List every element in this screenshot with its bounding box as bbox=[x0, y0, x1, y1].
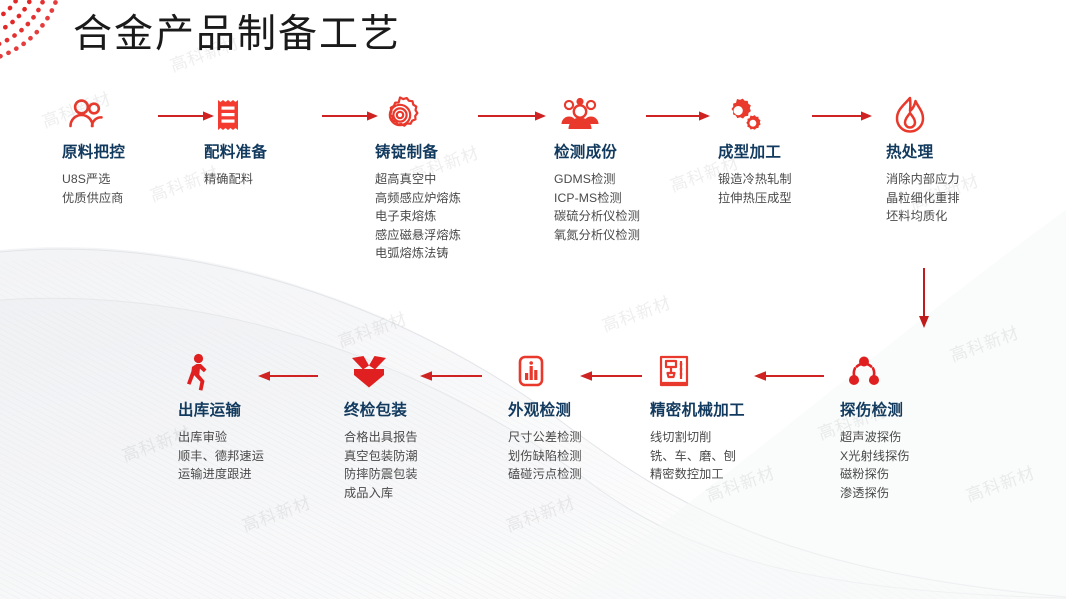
flow-arrow-right bbox=[158, 109, 216, 123]
step-detail-list: 精确配料 bbox=[204, 170, 354, 189]
step-detail-list: GDMS检测 ICP-MS检测 碳硫分析仪检测 氧氮分析仪检测 bbox=[554, 170, 704, 244]
step-detail-line: 锻造冷热轧制 bbox=[718, 170, 868, 189]
step-detail-list: 出库审验 顺丰、德邦速运 运输进度跟进 bbox=[178, 428, 328, 484]
watermark: 高科新材 bbox=[238, 488, 314, 536]
step-detail-line: 超声波探伤 bbox=[840, 428, 990, 447]
background-decoration bbox=[0, 0, 1066, 599]
step-detail-line: 感应磁悬浮熔炼 bbox=[375, 226, 525, 245]
step-title: 热处理 bbox=[886, 142, 1036, 164]
step-detail-list: 超高真空中 高频感应炉熔炼 电子束熔炼 感应磁悬浮熔炼 电弧熔炼法铸 bbox=[375, 170, 525, 263]
flow-arrow-right bbox=[646, 109, 712, 123]
step-detail-line: 运输进度跟进 bbox=[178, 465, 328, 484]
step-detail-line: 真空包装防潮 bbox=[344, 447, 494, 466]
step-title: 终检包装 bbox=[344, 400, 494, 422]
step-detail-line: 碳硫分析仪检测 bbox=[554, 207, 704, 226]
step-detail-line: 消除内部应力 bbox=[886, 170, 1036, 189]
step-detail-list: 线切割切削 铣、车、磨、刨 精密数控加工 bbox=[650, 428, 800, 484]
step-title: 检测成份 bbox=[554, 142, 704, 164]
watermark: 高科新材 bbox=[502, 488, 578, 536]
step-detail-list: U8S严选 优质供应商 bbox=[62, 170, 212, 207]
flow-arrow-left bbox=[418, 369, 482, 383]
step-title: 成型加工 bbox=[718, 142, 868, 164]
step-detail-list: 尺寸公差检测 划伤缺陷检测 磕碰污点检测 bbox=[508, 428, 658, 484]
step-detail-line: ICP-MS检测 bbox=[554, 189, 704, 208]
flow-arrow-left bbox=[578, 369, 642, 383]
flow-arrow-right bbox=[478, 109, 548, 123]
step-title: 原料把控 bbox=[62, 142, 212, 164]
down-arrow-connector bbox=[914, 268, 934, 282]
watermark: 高科新材 bbox=[334, 304, 410, 352]
flow-arrow-left bbox=[256, 369, 318, 383]
step-detail-line: 晶粒细化重排 bbox=[886, 189, 1036, 208]
step-detail-list: 锻造冷热轧制 拉伸热压成型 bbox=[718, 170, 868, 207]
step-detail-line: 超高真空中 bbox=[375, 170, 525, 189]
step-detail-line: GDMS检测 bbox=[554, 170, 704, 189]
step-detail-line: 坯料均质化 bbox=[886, 207, 1036, 226]
flow-step-tanshangjiance[interactable]: 探伤检测 超声波探伤 X光射线探伤 磁粉探伤 渗透探伤 bbox=[840, 352, 990, 502]
step-title: 外观检测 bbox=[508, 400, 658, 422]
step-detail-line: 尺寸公差检测 bbox=[508, 428, 658, 447]
step-detail-list: 合格出具报告 真空包装防潮 防摔防震包装 成品入库 bbox=[344, 428, 494, 502]
step-detail-line: 高频感应炉熔炼 bbox=[375, 189, 525, 208]
step-detail-line: 电子束熔炼 bbox=[375, 207, 525, 226]
step-title: 出库运输 bbox=[178, 400, 328, 422]
step-title: 铸锭制备 bbox=[375, 142, 525, 164]
step-detail-list: 超声波探伤 X光射线探伤 磁粉探伤 渗透探伤 bbox=[840, 428, 990, 502]
watermark: 高科新材 bbox=[598, 288, 674, 336]
step-detail-line: 氧氮分析仪检测 bbox=[554, 226, 704, 245]
step-detail-line: 拉伸热压成型 bbox=[718, 189, 868, 208]
step-detail-line: 顺丰、德邦速运 bbox=[178, 447, 328, 466]
three-node-network-icon bbox=[840, 352, 990, 394]
step-detail-line: 磁粉探伤 bbox=[840, 465, 990, 484]
step-detail-line: 电弧熔炼法铸 bbox=[375, 244, 525, 263]
step-title: 探伤检测 bbox=[840, 400, 990, 422]
step-detail-list: 消除内部应力 晶粒细化重排 坯料均质化 bbox=[886, 170, 1036, 226]
step-detail-line: 防摔防震包装 bbox=[344, 465, 494, 484]
flame-icon bbox=[886, 94, 1036, 136]
flow-arrow-right bbox=[322, 109, 380, 123]
step-detail-line: X光射线探伤 bbox=[840, 447, 990, 466]
step-detail-line: 铣、车、磨、刨 bbox=[650, 447, 800, 466]
step-title: 配料准备 bbox=[204, 142, 354, 164]
step-detail-line: 磕碰污点检测 bbox=[508, 465, 658, 484]
step-detail-line: 渗透探伤 bbox=[840, 484, 990, 503]
step-detail-line: 划伤缺陷检测 bbox=[508, 447, 658, 466]
flow-arrow-right bbox=[812, 109, 874, 123]
page-title: 合金产品制备工艺 bbox=[73, 8, 401, 62]
flow-arrow-left bbox=[752, 369, 824, 383]
step-detail-line: 优质供应商 bbox=[62, 189, 212, 208]
step-detail-line: 精密数控加工 bbox=[650, 465, 800, 484]
step-title: 精密机械加工 bbox=[650, 400, 800, 422]
step-detail-line: 精确配料 bbox=[204, 170, 354, 189]
flow-step-rechuli[interactable]: 热处理 消除内部应力 晶粒细化重排 坯料均质化 bbox=[886, 94, 1036, 226]
step-detail-line: 成品入库 bbox=[344, 484, 494, 503]
step-detail-line: 出库审验 bbox=[178, 428, 328, 447]
step-detail-line: U8S严选 bbox=[62, 170, 212, 189]
step-detail-line: 合格出具报告 bbox=[344, 428, 494, 447]
step-detail-line: 线切割切削 bbox=[650, 428, 800, 447]
